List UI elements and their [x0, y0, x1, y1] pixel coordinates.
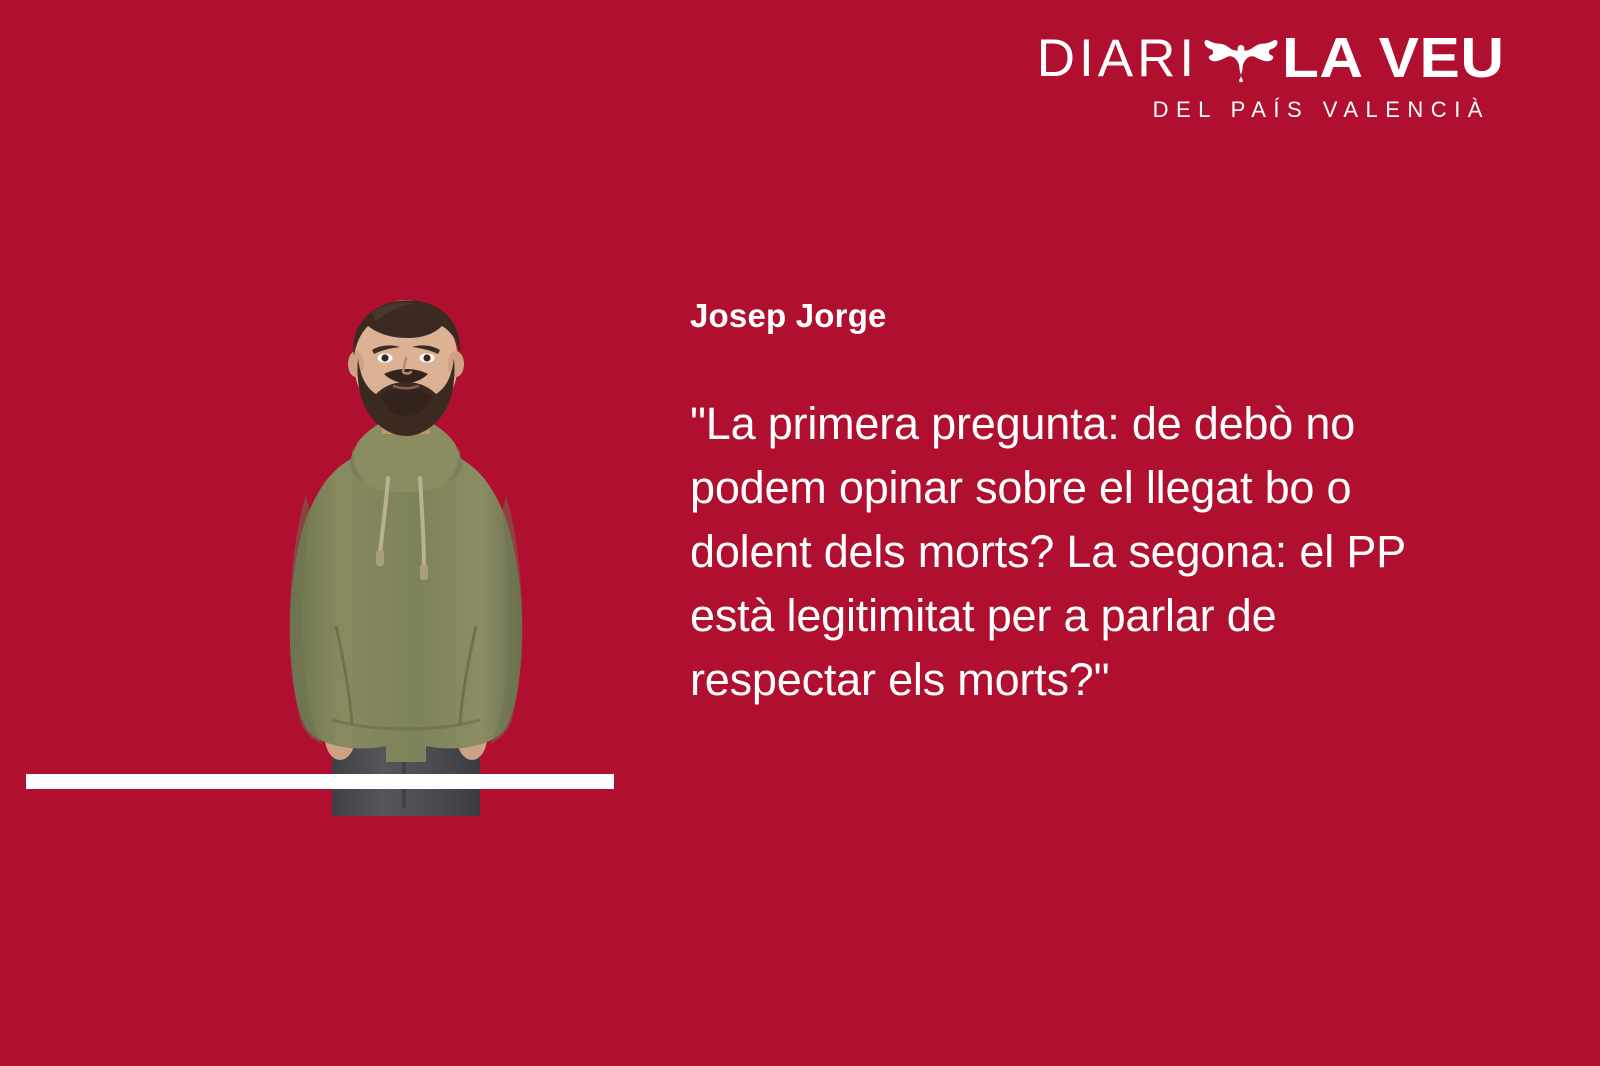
speaker-name: Josep Jorge [690, 296, 1450, 336]
logo-tagline: DEL PAÍS VALENCIÀ [992, 99, 1490, 121]
logo-wordmark: DIARI LA VEU [992, 28, 1492, 90]
brand-logo: DIARI LA VEU DEL PAÍS VALENCIÀ [992, 28, 1492, 121]
logo-diari-text: DIARI [1037, 32, 1198, 87]
bat-icon [1202, 31, 1280, 87]
quote-text-block: Josep Jorge "La primera pregunta: de deb… [690, 296, 1450, 712]
speaker-portrait [240, 296, 570, 816]
logo-laveu-text: LA VEU [1282, 30, 1505, 89]
quote-card: DIARI LA VEU DEL PAÍS VALENCIÀ [0, 0, 1600, 1066]
quote-body: "La primera pregunta: de debò no podem o… [690, 392, 1450, 712]
accent-rule [26, 774, 614, 789]
